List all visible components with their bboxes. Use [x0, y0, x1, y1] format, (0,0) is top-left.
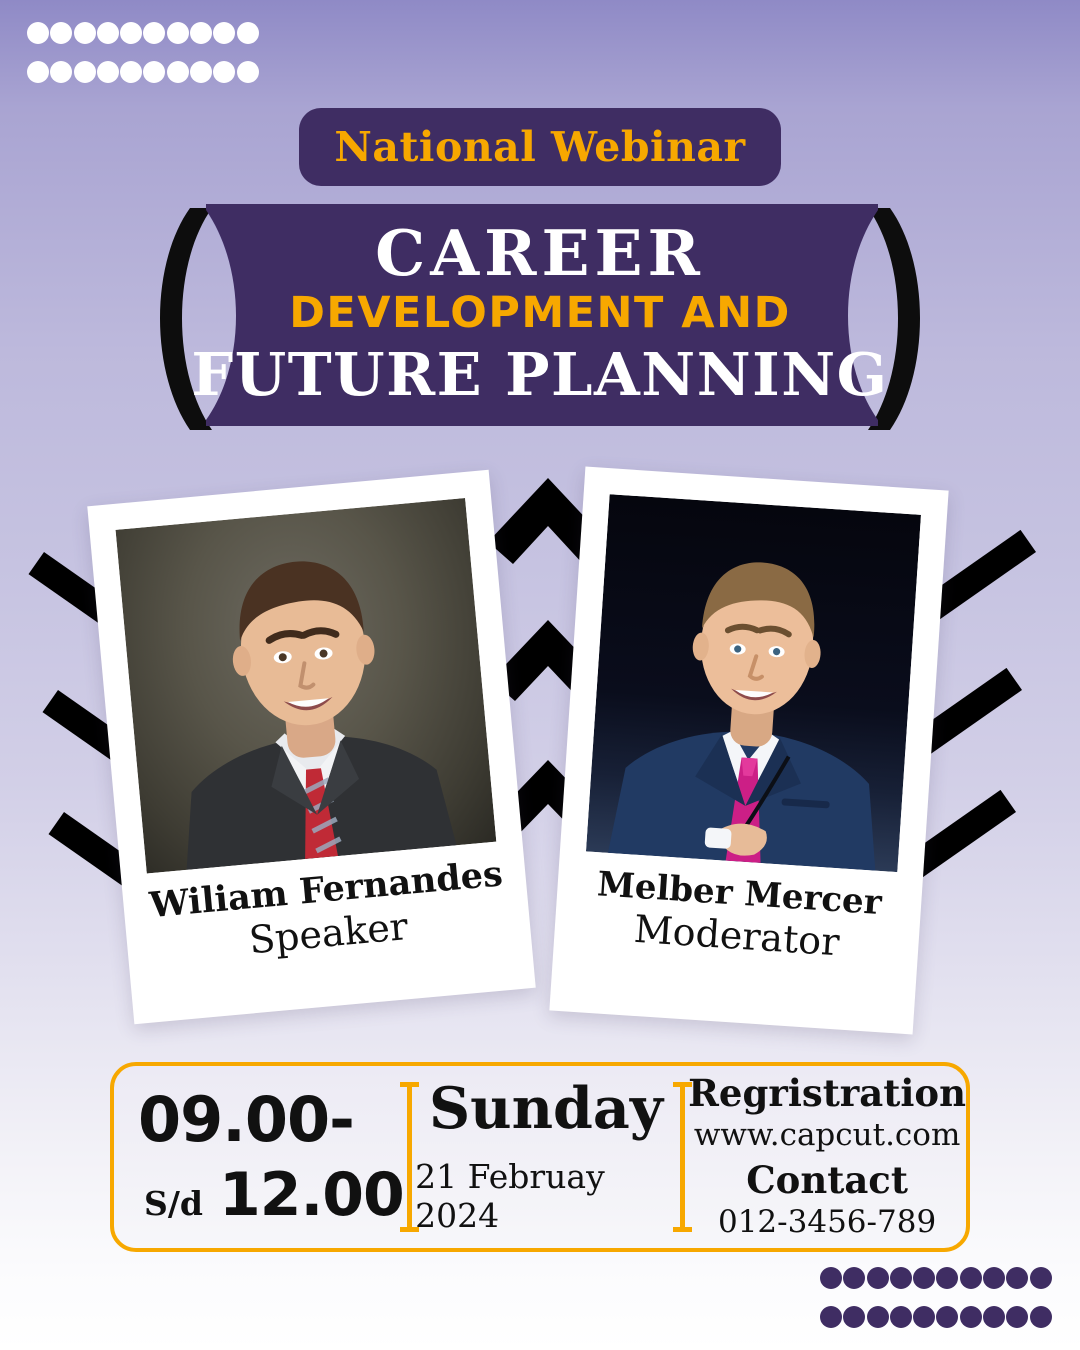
decor-dot	[120, 22, 142, 44]
info-column-time: 09.00- S/d 12.00	[114, 1066, 404, 1248]
decor-dot	[237, 61, 259, 83]
dot-grid-bottom-right	[820, 1267, 1053, 1328]
time-end-row: S/d 12.00	[144, 1165, 404, 1225]
decor-dot	[820, 1306, 842, 1328]
speaker-card-1: Wiliam Fernandes Speaker	[87, 470, 535, 1024]
decor-dot	[983, 1267, 1005, 1289]
banner-outline-left	[160, 208, 212, 430]
speaker-card-2: Melber Mercer Moderator	[549, 467, 948, 1035]
dot-grid-top-left	[27, 22, 260, 83]
decor-dot	[237, 22, 259, 44]
decor-dot	[890, 1267, 912, 1289]
decor-dot	[913, 1306, 935, 1328]
decor-dot	[74, 61, 96, 83]
registration-url[interactable]: www.capcut.com	[694, 1117, 961, 1153]
event-date: 21 Februay 2024	[415, 1157, 677, 1235]
registration-label: Regristration	[688, 1074, 966, 1113]
decor-dot	[913, 1267, 935, 1289]
title-banner-shape	[0, 186, 1080, 451]
banner-body	[206, 204, 878, 426]
decor-dot	[890, 1306, 912, 1328]
decor-dot	[97, 61, 119, 83]
decor-dot	[213, 61, 235, 83]
info-column-registration: Regristration www.capcut.com Contact 012…	[688, 1066, 966, 1248]
decor-dot	[190, 22, 212, 44]
decor-dot	[74, 22, 96, 44]
webinar-badge-label: National Webinar	[334, 123, 745, 171]
webinar-badge: National Webinar	[299, 108, 781, 186]
info-divider-2	[677, 1066, 688, 1248]
decor-dot	[27, 22, 49, 44]
decor-dot	[960, 1306, 982, 1328]
decor-dot	[983, 1306, 1005, 1328]
decor-dot	[843, 1306, 865, 1328]
decor-dot	[120, 61, 142, 83]
speaker-photo-2	[586, 494, 921, 872]
decor-dot	[190, 61, 212, 83]
info-divider-1	[404, 1066, 415, 1248]
decor-dot	[1030, 1267, 1052, 1289]
decor-dot	[50, 22, 72, 44]
time-sd-label: S/d	[144, 1184, 203, 1223]
decor-dot	[960, 1267, 982, 1289]
decor-dot	[143, 61, 165, 83]
decor-dot	[820, 1267, 842, 1289]
decor-dot	[867, 1306, 889, 1328]
time-start: 09.00-	[138, 1089, 354, 1151]
time-end: 12.00	[219, 1165, 404, 1225]
decor-dot	[867, 1267, 889, 1289]
speaker-caption-2: Melber Mercer Moderator	[580, 851, 898, 969]
event-day: Sunday	[429, 1080, 663, 1137]
decor-dot	[50, 61, 72, 83]
decor-dot	[1006, 1306, 1028, 1328]
contact-label: Contact	[746, 1161, 908, 1200]
decor-dot	[1030, 1306, 1052, 1328]
decor-dot	[936, 1267, 958, 1289]
event-info-bar: 09.00- S/d 12.00 Sunday 21 Februay 2024 …	[110, 1062, 970, 1252]
decor-dot	[167, 61, 189, 83]
decor-dot	[213, 22, 235, 44]
decor-dot	[143, 22, 165, 44]
decor-dot	[1006, 1267, 1028, 1289]
decor-dot	[97, 22, 119, 44]
decor-dot	[167, 22, 189, 44]
banner-outline-right	[868, 208, 920, 430]
info-column-date: Sunday 21 Februay 2024	[415, 1066, 677, 1248]
decor-dot	[843, 1267, 865, 1289]
speaker-photo-1	[116, 498, 497, 873]
decor-dot	[27, 61, 49, 83]
contact-phone[interactable]: 012-3456-789	[718, 1204, 936, 1240]
decor-dot	[936, 1306, 958, 1328]
